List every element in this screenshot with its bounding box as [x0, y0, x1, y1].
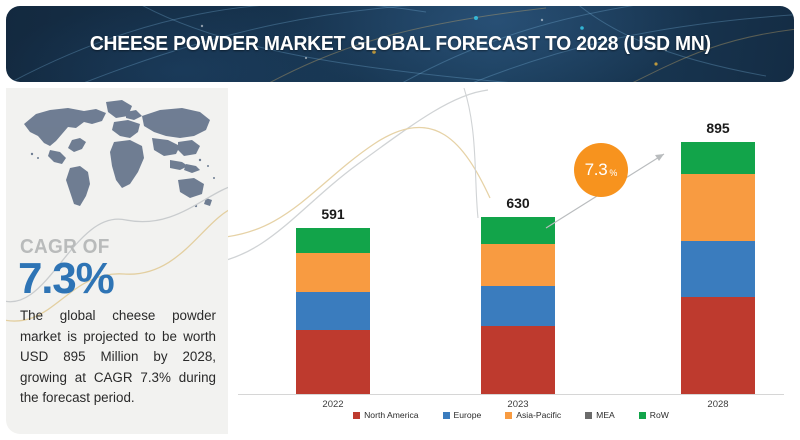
bar-segment[interactable] — [296, 292, 370, 330]
cagr-callout-bubble: 7.3 % — [574, 143, 628, 197]
legend-swatch — [443, 412, 450, 419]
legend-item[interactable]: Asia-Pacific — [505, 410, 561, 420]
bar-segment[interactable] — [481, 326, 555, 394]
legend-label: Asia-Pacific — [516, 410, 561, 420]
category-label: 2023 — [458, 399, 578, 410]
legend-label: Europe — [454, 410, 482, 420]
left-summary-panel: CAGR OF 7.3% The global cheese powder ma… — [6, 88, 228, 434]
legend-item[interactable]: MEA — [585, 410, 615, 420]
legend-label: MEA — [596, 410, 615, 420]
legend-swatch — [639, 412, 646, 419]
legend-item[interactable]: RoW — [639, 410, 669, 420]
legend-item[interactable]: North America — [353, 410, 418, 420]
page-title-text: CHEESE POWDER MARKET GLOBAL FORECAST TO … — [89, 32, 710, 56]
legend-swatch — [353, 412, 360, 419]
bar-group[interactable] — [481, 88, 555, 394]
legend-item[interactable]: Europe — [443, 410, 482, 420]
legend-swatch — [585, 412, 592, 419]
bar-value-label: 630 — [458, 195, 578, 211]
infographic-root: CHEESE POWDER MARKET GLOBAL FORECAST TO … — [0, 0, 800, 440]
summary-paragraph: The global cheese powder market is proje… — [20, 306, 216, 409]
bar-segment[interactable] — [681, 297, 755, 394]
legend-label: RoW — [650, 410, 669, 420]
category-label: 2022 — [273, 399, 393, 410]
stacked-bar[interactable] — [681, 142, 755, 394]
header-banner: CHEESE POWDER MARKET GLOBAL FORECAST TO … — [6, 6, 794, 82]
bar-segment[interactable] — [296, 330, 370, 394]
stacked-bar[interactable] — [296, 228, 370, 394]
bar-segment[interactable] — [681, 174, 755, 241]
bar-segment[interactable] — [296, 228, 370, 253]
bar-value-label: 591 — [273, 206, 393, 222]
bar-value-label: 895 — [658, 120, 778, 136]
chart-panel: 7.3 % 591202263020238952028 North Americ… — [228, 88, 794, 434]
legend-label: North America — [364, 410, 418, 420]
bar-segment[interactable] — [681, 142, 755, 174]
bar-segment[interactable] — [481, 244, 555, 286]
bar-segment[interactable] — [296, 253, 370, 292]
page-title: CHEESE POWDER MARKET GLOBAL FORECAST TO … — [6, 32, 794, 56]
bar-segment[interactable] — [481, 217, 555, 244]
cagr-callout-unit: % — [609, 168, 617, 178]
category-label: 2028 — [658, 399, 778, 410]
bar-segment[interactable] — [481, 286, 555, 326]
cagr-value: 7.3% — [18, 254, 114, 304]
cagr-callout-value: 7.3 — [585, 160, 608, 180]
legend-swatch — [505, 412, 512, 419]
stacked-bar[interactable] — [481, 217, 555, 394]
bar-group[interactable] — [296, 88, 370, 394]
x-axis-line — [238, 394, 784, 395]
bar-segment[interactable] — [681, 241, 755, 297]
plot-area: 7.3 % 591202263020238952028 — [228, 88, 794, 394]
chart-legend: North AmericaEuropeAsia-PacificMEARoW — [228, 410, 794, 420]
